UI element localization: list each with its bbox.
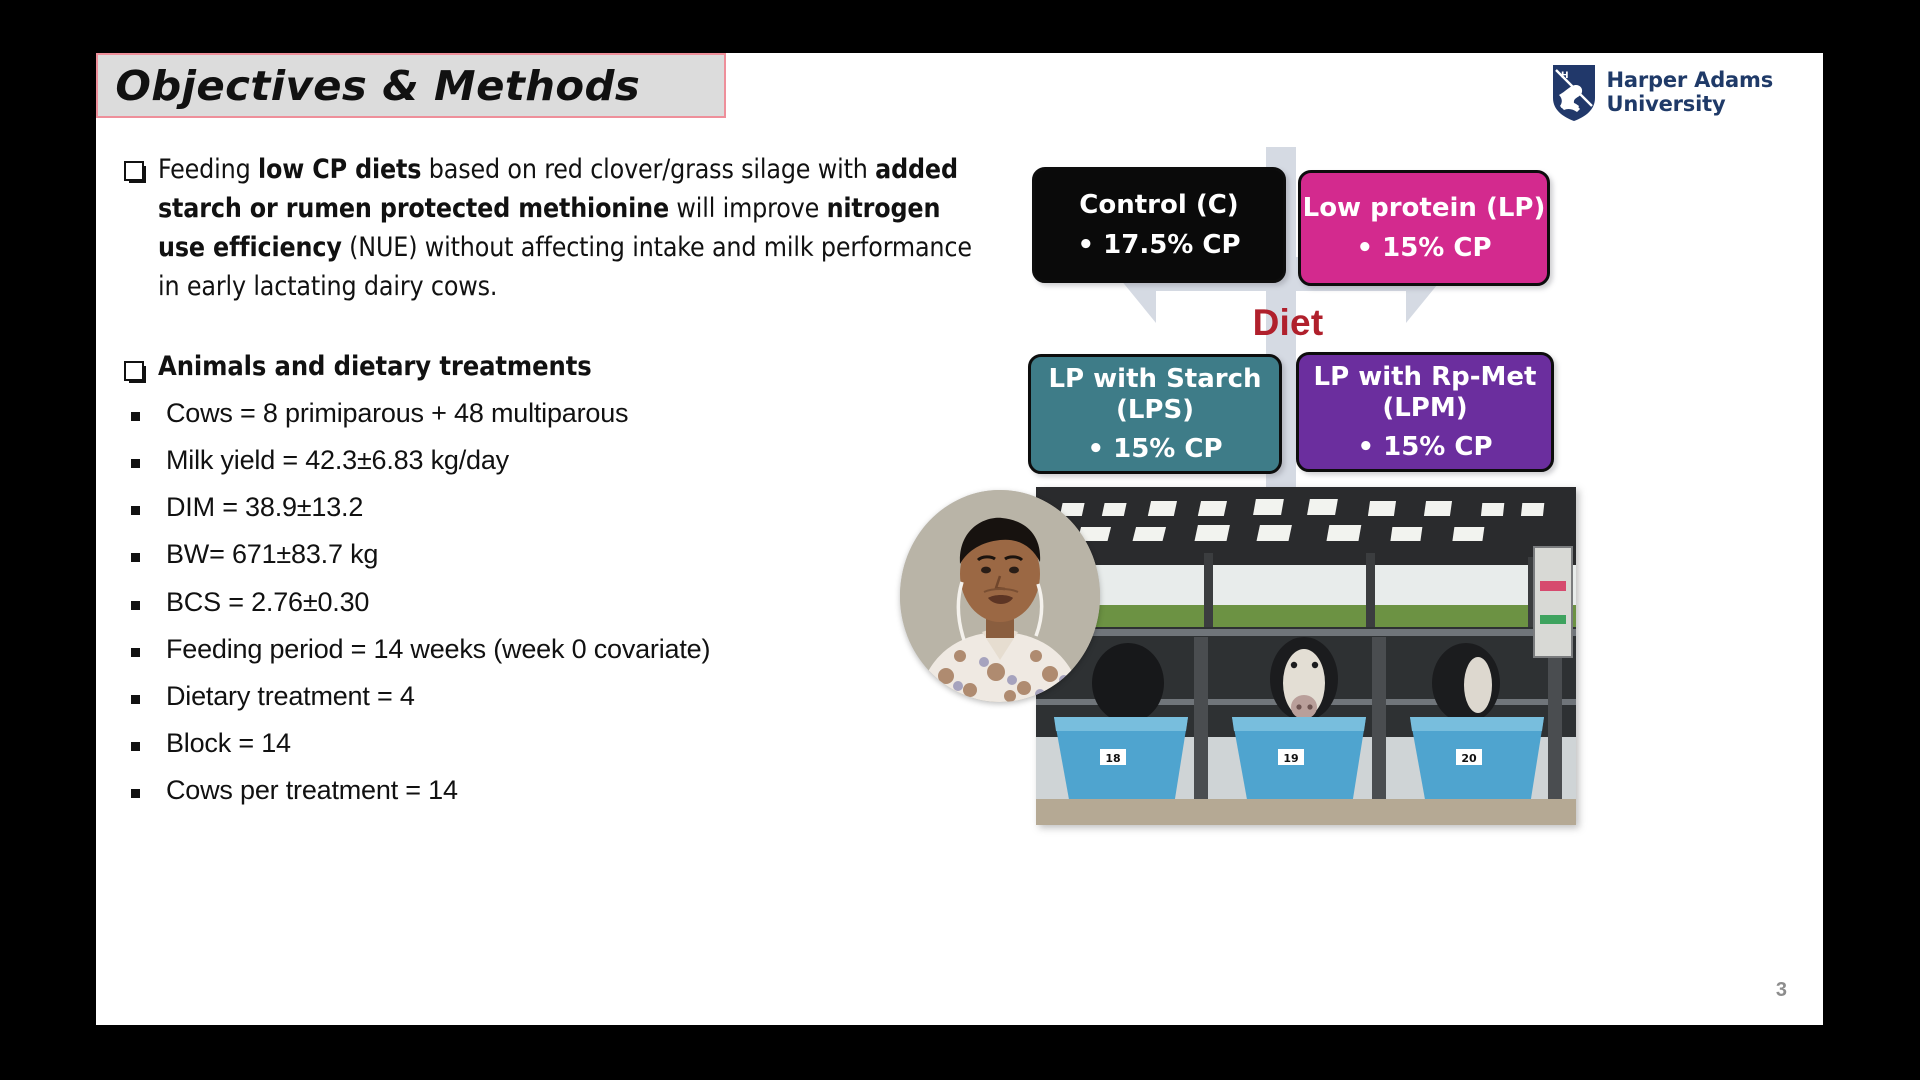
list-item-label: Block = 14 <box>166 729 291 759</box>
list-item: Block = 14 <box>124 729 1004 759</box>
list-item: Cows = 8 primiparous + 48 multiparous <box>124 399 1004 429</box>
hollow-square-bullet-icon <box>124 161 144 181</box>
logo-line-2: University <box>1607 93 1773 117</box>
list-item: DIM = 38.9±13.2 <box>124 493 1004 523</box>
shield-icon: H <box>1552 64 1596 122</box>
left-content-column: Feeding low CP diets based on red clover… <box>124 151 1004 824</box>
diet-box-title-line2: (LPM) <box>1382 393 1467 423</box>
body-text: Feeding <box>158 154 258 185</box>
harper-adams-logo: H Harper Adams University <box>1552 62 1773 124</box>
diet-box-control: Control (C) • 17.5% CP <box>1032 167 1286 283</box>
list-item: Dietary treatment = 4 <box>124 682 1004 712</box>
diet-box-value: • 15% CP <box>1357 432 1492 462</box>
list-item: Feeding period = 14 weeks (week 0 covari… <box>124 635 1004 665</box>
square-bullet-icon <box>131 459 140 468</box>
hypothesis-bullet-row: Feeding low CP diets based on red clover… <box>124 151 1004 307</box>
diet-box-value: • 17.5% CP <box>1077 230 1240 260</box>
methods-fact-list: Cows = 8 primiparous + 48 multiparousMil… <box>124 399 1004 806</box>
square-bullet-icon <box>131 553 140 562</box>
svg-text:19: 19 <box>1283 752 1298 765</box>
list-item-label: Milk yield = 42.3±6.83 kg/day <box>166 446 509 476</box>
list-item-label: DIM = 38.9±13.2 <box>166 493 363 523</box>
diagram-center-label: Diet <box>1008 302 1568 344</box>
list-item-label: Feeding period = 14 weeks (week 0 covari… <box>166 635 710 665</box>
list-item: Milk yield = 42.3±6.83 kg/day <box>124 446 1004 476</box>
hollow-square-bullet-icon <box>124 361 144 381</box>
square-bullet-icon <box>131 789 140 798</box>
presenter-webcam-circle <box>900 490 1100 702</box>
list-item-label: Cows = 8 primiparous + 48 multiparous <box>166 399 628 429</box>
square-bullet-icon <box>131 648 140 657</box>
diet-treatment-diagram: Control (C) • 17.5% CP Low protein (LP) … <box>1008 150 1628 520</box>
body-text: based on red clover/grass silage with <box>421 154 875 185</box>
list-item: BCS = 2.76±0.30 <box>124 588 1004 618</box>
svg-text:H: H <box>1561 71 1569 81</box>
list-item: BW= 671±83.7 kg <box>124 540 1004 570</box>
photo-group: 18 19 20 <box>936 483 1596 843</box>
svg-text:18: 18 <box>1105 752 1120 765</box>
square-bullet-icon <box>131 601 140 610</box>
slide-canvas: Objectives & Methods H Harper Adams Univ… <box>96 53 1823 1025</box>
diet-box-lp-starch: LP with Starch (LPS) • 15% CP <box>1028 354 1282 474</box>
diet-box-lp-rpmet: LP with Rp-Met (LPM) • 15% CP <box>1296 352 1554 472</box>
emphasis-text: low CP diets <box>258 154 421 185</box>
subheading-bullet-row: Animals and dietary treatments <box>124 351 1004 382</box>
list-item-label: Cows per treatment = 14 <box>166 776 458 806</box>
diet-box-low-protein: Low protein (LP) • 15% CP <box>1298 170 1550 286</box>
diet-box-value: • 15% CP <box>1087 434 1222 464</box>
diet-box-title-line1: LP with Rp-Met <box>1314 362 1537 392</box>
body-text: will improve <box>669 193 827 224</box>
logo-wordmark: Harper Adams University <box>1607 69 1773 116</box>
list-item-label: Dietary treatment = 4 <box>166 682 415 712</box>
page-title: Objectives & Methods <box>98 62 640 110</box>
list-item-label: BW= 671±83.7 kg <box>166 540 378 570</box>
section-subheading: Animals and dietary treatments <box>158 351 592 382</box>
list-item-label: BCS = 2.76±0.30 <box>166 588 369 618</box>
diet-box-title: Control (C) <box>1079 190 1238 220</box>
logo-line-1: Harper Adams <box>1607 69 1773 93</box>
slide-title-box: Objectives & Methods <box>96 53 726 118</box>
square-bullet-icon <box>131 695 140 704</box>
page-number: 3 <box>1776 979 1787 1002</box>
square-bullet-icon <box>131 506 140 515</box>
diet-box-title-line1: LP with Starch <box>1048 364 1261 394</box>
hypothesis-paragraph: Feeding low CP diets based on red clover… <box>158 151 986 307</box>
barn-photo: 18 19 20 <box>1036 487 1576 825</box>
diet-box-title: Low protein (LP) <box>1303 193 1546 223</box>
svg-text:20: 20 <box>1461 752 1477 765</box>
square-bullet-icon <box>131 412 140 421</box>
diet-box-title-line2: (LPS) <box>1116 395 1194 425</box>
list-item: Cows per treatment = 14 <box>124 776 1004 806</box>
square-bullet-icon <box>131 742 140 751</box>
diet-box-value: • 15% CP <box>1356 233 1491 263</box>
